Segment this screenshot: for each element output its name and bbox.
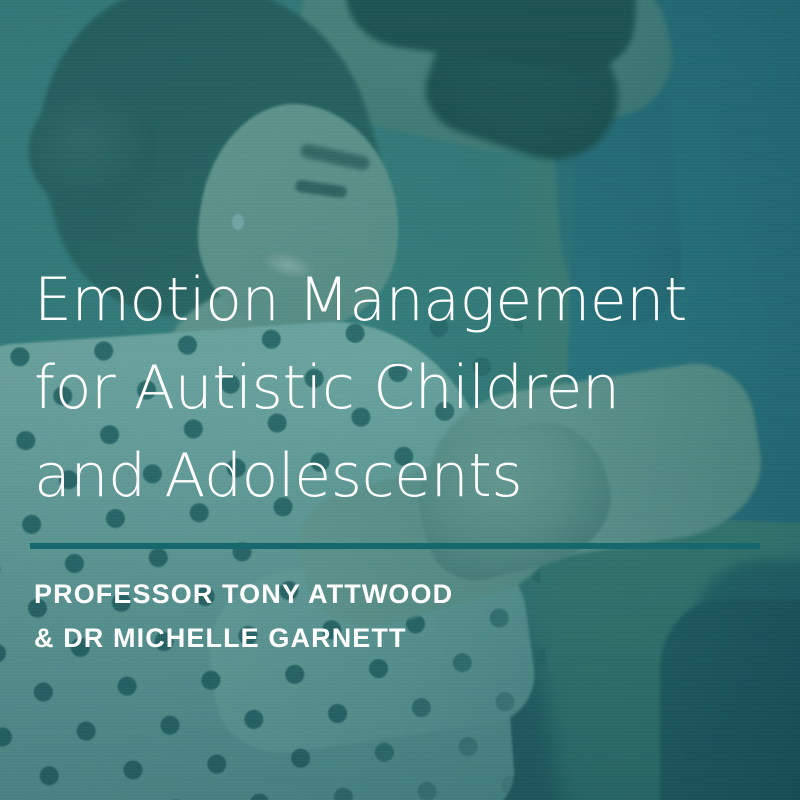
text-layer: Emotion Management for Autistic Children… — [0, 0, 800, 800]
promo-title-card: Emotion Management for Autistic Children… — [0, 0, 800, 800]
presenter-line-1: PROFESSOR TONY ATTWOOD — [34, 572, 453, 616]
title-line-1: Emotion Management — [34, 256, 774, 344]
title-line-2: for Autistic Children — [34, 344, 774, 432]
divider — [30, 543, 760, 549]
presenter-line-2: & DR MICHELLE GARNETT — [34, 616, 453, 660]
title-line-3: and Adolescents — [34, 432, 774, 520]
presenter-names: PROFESSOR TONY ATTWOOD & DR MICHELLE GAR… — [34, 572, 453, 660]
page-title: Emotion Management for Autistic Children… — [34, 256, 774, 520]
